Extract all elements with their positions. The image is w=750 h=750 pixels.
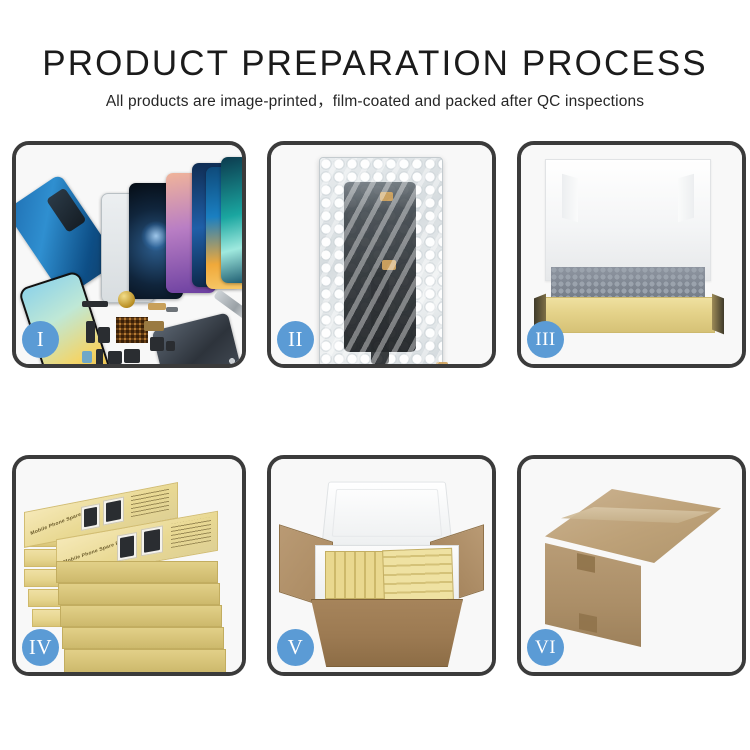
spare-part (96, 349, 103, 367)
stacked-box (64, 649, 226, 673)
carton-body (311, 599, 463, 667)
box-print-text-lines (171, 517, 211, 548)
plastic-sheen (320, 158, 442, 368)
step-badge-1: I (22, 321, 59, 358)
stacked-box (56, 561, 218, 583)
step-badge-6: VI (527, 629, 564, 666)
step-badge-5: V (277, 629, 314, 666)
step-panel-1: I (12, 141, 246, 368)
kraft-box-tray (543, 297, 715, 333)
spare-part (148, 303, 166, 310)
spare-part (98, 327, 110, 343)
spare-part (82, 301, 108, 307)
phone-teal (221, 157, 246, 283)
stacked-box (58, 583, 220, 605)
connector-tape (374, 364, 386, 368)
step-panel-6: VI (517, 455, 746, 676)
spare-part (144, 321, 164, 331)
step-panel-3: III (517, 141, 746, 368)
packed-boxes (382, 548, 454, 602)
box-print-image (141, 525, 163, 556)
grey-foam-padding (551, 267, 705, 301)
steps-grid: I II (0, 0, 750, 750)
foam-lid (321, 482, 452, 546)
step-badge-3: III (527, 321, 564, 358)
white-box-lid (545, 159, 711, 281)
step-panel-2: II (267, 141, 496, 368)
box-print-text-lines (131, 488, 169, 517)
step-badge-2: II (277, 321, 314, 358)
box-print-image (81, 503, 100, 531)
spare-part (166, 341, 175, 351)
spare-part (124, 349, 140, 363)
chip-grid-part (116, 317, 148, 343)
spare-part (108, 351, 122, 364)
box-print-image (103, 497, 124, 526)
step-panel-5: V (267, 455, 496, 676)
vibration-motor-part (118, 291, 135, 308)
screws-group (228, 357, 246, 368)
spare-part (86, 321, 95, 343)
stacked-box (62, 627, 224, 649)
lid-flap-left (562, 174, 578, 223)
spare-part (150, 337, 164, 351)
product-preparation-infographic: PRODUCT PREPARATION PROCESS All products… (0, 0, 750, 750)
step-badge-4: IV (22, 629, 59, 666)
box-print-image (117, 532, 137, 562)
bubble-wrap-bag (319, 157, 443, 368)
step-panel-4: Mobile Phone Spare Parts Mobile Phone Sp… (12, 455, 246, 676)
stacked-box (60, 605, 222, 627)
spare-part (166, 307, 178, 312)
spare-part (82, 351, 92, 363)
lid-flap-right (678, 174, 694, 223)
